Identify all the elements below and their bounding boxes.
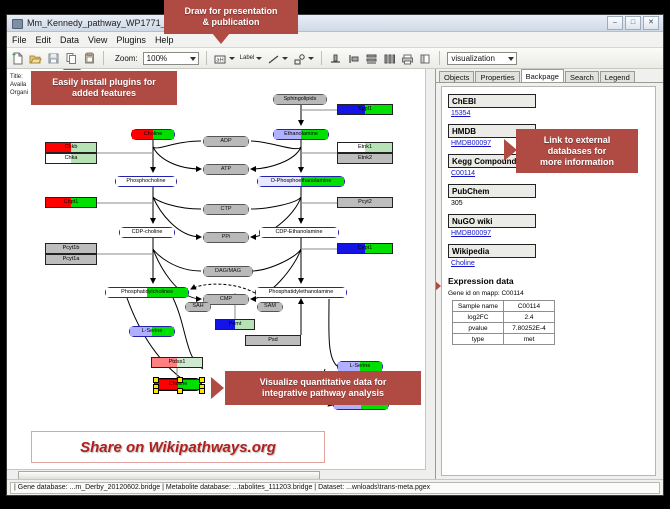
canvas-vscrollbar[interactable] xyxy=(425,69,435,470)
cofactor-adp[interactable]: ADP xyxy=(203,136,249,147)
cofactor-label: CTP xyxy=(221,207,232,213)
gene-label: Pcyt1b xyxy=(63,246,80,252)
tab-search[interactable]: Search xyxy=(565,71,599,82)
expression-value: 2.4 xyxy=(504,312,555,323)
zoom-label: Zoom: xyxy=(115,54,138,63)
metabolite-cdp_choline[interactable]: CDP-choline xyxy=(119,227,175,238)
table-row: pvalue7.80252E-4 xyxy=(453,323,555,334)
datanode-dropdown[interactable]: aH xyxy=(214,52,235,65)
cofactor-ctp[interactable]: CTP xyxy=(203,204,249,215)
label-dropdown[interactable]: Label xyxy=(240,55,263,61)
metabolite-cdp_ethanolamine[interactable]: CDP-Ethanolamine xyxy=(259,227,339,238)
stack-icon[interactable] xyxy=(365,52,378,65)
metabolite-label: Phosphocholine xyxy=(126,179,165,185)
gene-label: Chpt1 xyxy=(64,200,79,206)
gene-label: Psd xyxy=(268,338,277,344)
expression-key: type xyxy=(453,334,504,345)
pathvisio-window: Mm_Kennedy_pathway_WP1771_45176.gpml – □… xyxy=(6,14,664,496)
menu-item-data[interactable]: Data xyxy=(60,35,79,45)
expression-value: met xyxy=(504,334,555,345)
visualization-value: visualization xyxy=(451,54,495,63)
callout-visualize-arrow xyxy=(211,377,224,399)
maximize-button[interactable]: □ xyxy=(625,16,641,30)
paste-icon[interactable] xyxy=(83,52,96,65)
callout-draw-text: Draw for presentation& publication xyxy=(184,6,277,28)
shape-dropdown[interactable] xyxy=(293,52,314,65)
line-dropdown[interactable] xyxy=(267,52,288,65)
cofactor-sam[interactable]: SAM xyxy=(257,302,283,312)
cofactor-label: CMP xyxy=(220,297,232,303)
selection-handle[interactable] xyxy=(153,377,159,383)
toolbar-separator-2 xyxy=(206,51,207,65)
minimize-button[interactable]: – xyxy=(607,16,623,30)
cofactor-dagmag[interactable]: DAG/MAG xyxy=(203,266,253,277)
metabolite-label: Phosphatidylethanolamine xyxy=(269,290,334,296)
cofactor-label: ADP xyxy=(220,139,231,145)
open-folder-icon[interactable] xyxy=(29,52,42,65)
shape-icon[interactable] xyxy=(293,52,306,65)
gene-chka[interactable]: Chka xyxy=(45,153,97,164)
database-header-chebi: ChEBI xyxy=(448,94,536,108)
cofactor-label: PPi xyxy=(222,235,231,241)
cofactor-label: SAM xyxy=(264,304,276,310)
zoom-combobox[interactable]: 100% xyxy=(143,52,199,65)
distribute-icon[interactable] xyxy=(383,52,396,65)
chevron-down-icon-5[interactable] xyxy=(308,57,314,60)
cofactor-atp[interactable]: ATP xyxy=(203,164,249,175)
menu-item-view[interactable]: View xyxy=(88,35,107,45)
align-left-icon[interactable] xyxy=(347,52,360,65)
toolbar-separator xyxy=(103,51,104,65)
metabolite-sphingolipids[interactable]: Sphingolipids xyxy=(273,94,327,105)
expression-key: pvalue xyxy=(453,323,504,334)
selection-handle[interactable] xyxy=(177,388,183,394)
gene-label: Pcyt2 xyxy=(358,200,372,206)
zoom-value: 100% xyxy=(147,54,167,63)
callout-draw-arrow xyxy=(212,33,230,44)
new-file-icon[interactable] xyxy=(11,52,24,65)
callout-links-arrow-2 xyxy=(436,275,441,297)
cofactor-label: ATP xyxy=(221,167,231,173)
page-icon[interactable] xyxy=(419,52,432,65)
expression-value: C00114 xyxy=(504,301,555,312)
gene-chpt1[interactable]: Chpt1 xyxy=(45,197,97,208)
datanode-icon[interactable]: aH xyxy=(214,52,227,65)
gene-label: Pcyt1a xyxy=(63,257,80,263)
metabolite-label: Sphingolipids xyxy=(284,97,317,103)
metabolite-label: O-Phosphoethanolamine xyxy=(271,179,332,185)
metabolite-o_phosphoethanolamine[interactable]: O-Phosphoethanolamine xyxy=(257,176,345,187)
metabolite-label: L-Serine xyxy=(142,329,163,335)
gene-chkb[interactable]: Chkb xyxy=(45,142,97,153)
menu-bar: File Edit Data View Plugins Help xyxy=(7,32,663,48)
gene-label: Etnk2 xyxy=(358,156,372,162)
table-row: Sample nameC00114 xyxy=(453,301,555,312)
callout-links: Link to externaldatabases formore inform… xyxy=(516,129,638,173)
tab-legend[interactable]: Legend xyxy=(600,71,635,82)
expression-key: Sample name xyxy=(453,301,504,312)
metabolite-ethanolamine[interactable]: Ethanolamine xyxy=(273,129,329,140)
window-controls[interactable]: – □ ✕ xyxy=(607,16,659,30)
menu-item-file[interactable]: File xyxy=(12,35,27,45)
cofactor-label: DAG/MAG xyxy=(215,269,241,275)
expression-key: log2FC xyxy=(453,312,504,323)
tab-backpage[interactable]: Backpage xyxy=(521,69,564,82)
chevron-down-icon-2[interactable] xyxy=(229,57,235,60)
menu-item-edit[interactable]: Edit xyxy=(36,35,52,45)
label-button-text[interactable]: Label xyxy=(240,55,255,61)
expression-value: 7.80252E-4 xyxy=(504,323,555,334)
expression-table: Sample nameC00114log2FC2.4pvalue7.80252E… xyxy=(452,300,555,345)
metabolite-phosphatidylethanolamine[interactable]: Phosphatidylethanolamine xyxy=(255,287,347,298)
database-value-chebi[interactable]: 15354 xyxy=(451,110,655,117)
cofactor-ppi[interactable]: PPi xyxy=(203,232,249,243)
tab-properties[interactable]: Properties xyxy=(475,71,519,82)
gene-etnk2[interactable]: Etnk2 xyxy=(337,153,393,164)
gene-label: Cept1 xyxy=(358,246,373,252)
canvas-hscroll-thumb[interactable] xyxy=(18,471,320,479)
selection-handle[interactable] xyxy=(153,388,159,394)
gene-id-line: Gene id on mapp: C00114 xyxy=(448,290,655,297)
gene-pcyt1a[interactable]: Pcyt1a xyxy=(45,254,97,265)
metabolite-label: CDP-Ethanolamine xyxy=(275,230,322,236)
callout-visualize-text: Visualize quantitative data forintegrati… xyxy=(260,377,387,399)
gene-sgpl1[interactable]: Sgpl1 xyxy=(337,104,393,115)
database-value-nugo-wiki[interactable]: HMDB00097 xyxy=(451,230,655,237)
chevron-down-icon-6 xyxy=(508,57,514,61)
callout-draw: Draw for presentation& publication xyxy=(164,0,298,34)
pathway-canvas[interactable]: Title: Availa Organi xyxy=(7,69,436,479)
print-icon[interactable] xyxy=(401,52,414,65)
gene-label: Etnk1 xyxy=(358,145,372,151)
database-value-pubchem: 305 xyxy=(451,200,655,207)
title-bar: Mm_Kennedy_pathway_WP1771_45176.gpml – □… xyxy=(7,15,663,32)
close-button[interactable]: ✕ xyxy=(643,16,659,30)
app-icon xyxy=(11,17,23,29)
metabolite-phosphocholine[interactable]: Phosphocholine xyxy=(115,176,177,187)
callout-links-text: Link to externaldatabases formore inform… xyxy=(540,135,614,168)
metabolite-label: Choline xyxy=(144,132,163,138)
copy-icon[interactable] xyxy=(65,52,78,65)
metabolite-label: L-Serine xyxy=(350,364,371,370)
line-icon[interactable] xyxy=(267,52,280,65)
chevron-down-icon xyxy=(190,57,196,61)
status-bar: | Gene database: ...m_Derby_20120602.bri… xyxy=(7,479,663,495)
callout-visualize: Visualize quantitative data forintegrati… xyxy=(225,371,421,405)
database-value-wikipedia[interactable]: Choline xyxy=(451,260,655,267)
database-link-list: ChEBI15354HMDBHMDB00097Kegg CompoundC001… xyxy=(442,94,655,267)
gene-psd[interactable]: Psd xyxy=(245,335,301,346)
metabolite-choline_top[interactable]: Choline xyxy=(131,129,175,140)
table-row: log2FC2.4 xyxy=(453,312,555,323)
toolbar-separator-4 xyxy=(439,51,440,65)
svg-text:aH: aH xyxy=(216,57,224,63)
metabolite-phosphatidylcholines[interactable]: Phosphatidylcholines xyxy=(105,287,189,298)
save-icon[interactable] xyxy=(47,52,60,65)
gene-cept1[interactable]: Cept1 xyxy=(337,243,393,254)
gene-pcyt1b[interactable]: Pcyt1b xyxy=(45,243,97,254)
expression-data-heading: Expression data xyxy=(448,276,655,286)
cofactor-sah[interactable]: SAH xyxy=(185,302,211,312)
canvas-hscrollbar[interactable] xyxy=(7,469,435,479)
gene-label: Pemt xyxy=(229,322,242,328)
selection-handle[interactable] xyxy=(199,377,205,383)
share-banner: Share on Wikipathways.org xyxy=(31,431,325,463)
menu-item-plugins[interactable]: Plugins xyxy=(116,35,146,45)
side-panel: ObjectsPropertiesBackpageSearchLegend Ch… xyxy=(436,69,663,479)
gene-label: Ptdss1 xyxy=(169,360,186,366)
selection-handle[interactable] xyxy=(199,388,205,394)
database-header-wikipedia: Wikipedia xyxy=(448,244,536,258)
selection-handle[interactable] xyxy=(177,377,183,383)
chevron-down-icon-4[interactable] xyxy=(282,57,288,60)
side-panel-tabs: ObjectsPropertiesBackpageSearchLegend xyxy=(436,69,663,83)
metabolite-label: Phosphatidylcholines xyxy=(121,290,173,296)
gene-label: Chkb xyxy=(65,145,78,151)
metabolite-label: Ethanolamine xyxy=(284,132,318,138)
gene-label: Chka xyxy=(65,156,78,162)
menu-item-help[interactable]: Help xyxy=(155,35,174,45)
cofactor-label: SAH xyxy=(192,304,203,310)
main-body: Title: Availa Organi xyxy=(7,69,663,479)
gene-pemt[interactable]: Pemt xyxy=(215,319,255,330)
chevron-down-icon-3[interactable] xyxy=(256,57,262,60)
gene-pcyt2[interactable]: Pcyt2 xyxy=(337,197,393,208)
visualization-combobox[interactable]: visualization xyxy=(447,52,517,65)
database-header-pubchem: PubChem xyxy=(448,184,536,198)
toolbar: Zoom: 100% aH Label xyxy=(7,48,663,69)
callout-plugins-text: Easily install plugins foradded features xyxy=(52,77,156,99)
metabolite-choline_sel[interactable]: Choline xyxy=(155,379,201,390)
toolbar-separator-3 xyxy=(321,51,322,65)
table-row: typemet xyxy=(453,334,555,345)
metabolite-label: CDP-choline xyxy=(132,230,163,236)
metabolite-l_serine_left[interactable]: L-Serine xyxy=(129,326,175,337)
tab-objects[interactable]: Objects xyxy=(439,71,474,82)
share-banner-text: Share on Wikipathways.org xyxy=(80,439,276,456)
align-top-icon[interactable] xyxy=(329,52,342,65)
database-header-nugo-wiki: NuGO wiki xyxy=(448,214,536,228)
callout-plugins: Easily install plugins foradded features xyxy=(31,71,177,105)
gene-ptdss1[interactable]: Ptdss1 xyxy=(151,357,203,368)
gene-label: Sgpl1 xyxy=(358,107,372,113)
callout-plugins-arrow xyxy=(63,69,81,70)
gene-etnk1[interactable]: Etnk1 xyxy=(337,142,393,153)
status-text: | Gene database: ...m_Derby_20120602.bri… xyxy=(10,482,660,494)
